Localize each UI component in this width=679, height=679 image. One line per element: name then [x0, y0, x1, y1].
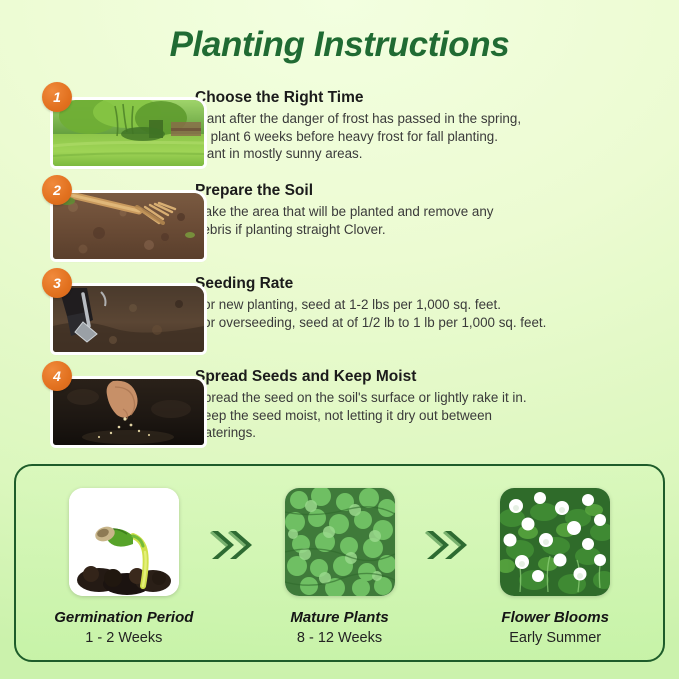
sunny-lawn-with-trees-photo [53, 100, 204, 166]
stage-name: Flower Blooms [473, 608, 637, 627]
timeline-stage: Flower Blooms Early Summer [473, 488, 637, 648]
step-title: Spread Seeds and Keep Moist [195, 367, 665, 386]
page-title: Planting Instructions [0, 24, 679, 66]
rake-on-soil-photo [53, 193, 204, 259]
step-number-badge: 4 [42, 361, 72, 391]
timeline-stage: Germination Period 1 - 2 Weeks [42, 488, 206, 648]
timeline-stage: Mature Plants 8 - 12 Weeks [258, 488, 422, 648]
double-chevron-right-icon [206, 488, 258, 562]
step-title: Choose the Right Time [195, 88, 665, 107]
step-body: For new planting, seed at 1-2 lbs per 1,… [195, 296, 665, 331]
stage-duration: 8 - 12 Weeks [258, 629, 422, 648]
clover-leaves-photo [285, 488, 395, 596]
planting-instructions-poster: Planting Instructions 1 [0, 0, 679, 679]
step-body: Rake the area that will be planted and r… [195, 203, 665, 238]
sprouting-seedling-photo [69, 488, 179, 596]
white-clover-flowers-photo [500, 488, 610, 596]
step-title: Seeding Rate [195, 274, 665, 293]
step-title: Prepare the Soil [195, 181, 665, 200]
double-chevron-right-icon [421, 488, 473, 562]
step-text-block: Seeding Rate For new planting, seed at 1… [195, 268, 679, 331]
steps-list: 1 [0, 82, 679, 454]
step-text-block: Spread Seeds and Keep Moist Spread the s… [195, 361, 679, 442]
step-body: Plant after the danger of frost has pass… [195, 110, 665, 163]
step-text-block: Prepare the Soil Rake the area that will… [195, 175, 679, 238]
hand-sowing-seeds-photo [53, 379, 204, 445]
step-number-badge: 2 [42, 175, 72, 205]
growth-timeline-panel: Germination Period 1 - 2 Weeks [14, 464, 665, 662]
shovel-digging-soil-photo [53, 286, 204, 352]
stage-duration: Early Summer [473, 629, 637, 648]
step-number-badge: 3 [42, 268, 72, 298]
step-item: 1 [0, 82, 679, 166]
step-number-badge: 1 [42, 82, 72, 112]
stage-name: Germination Period [42, 608, 206, 627]
step-item: 4 [0, 361, 679, 445]
step-text-block: Choose the Right Time Plant after the da… [195, 82, 679, 163]
step-item: 2 [0, 175, 679, 259]
step-body: Spread the seed on the soil's surface or… [195, 389, 665, 442]
step-item: 3 [0, 268, 679, 352]
stage-duration: 1 - 2 Weeks [42, 629, 206, 648]
stage-name: Mature Plants [258, 608, 422, 627]
